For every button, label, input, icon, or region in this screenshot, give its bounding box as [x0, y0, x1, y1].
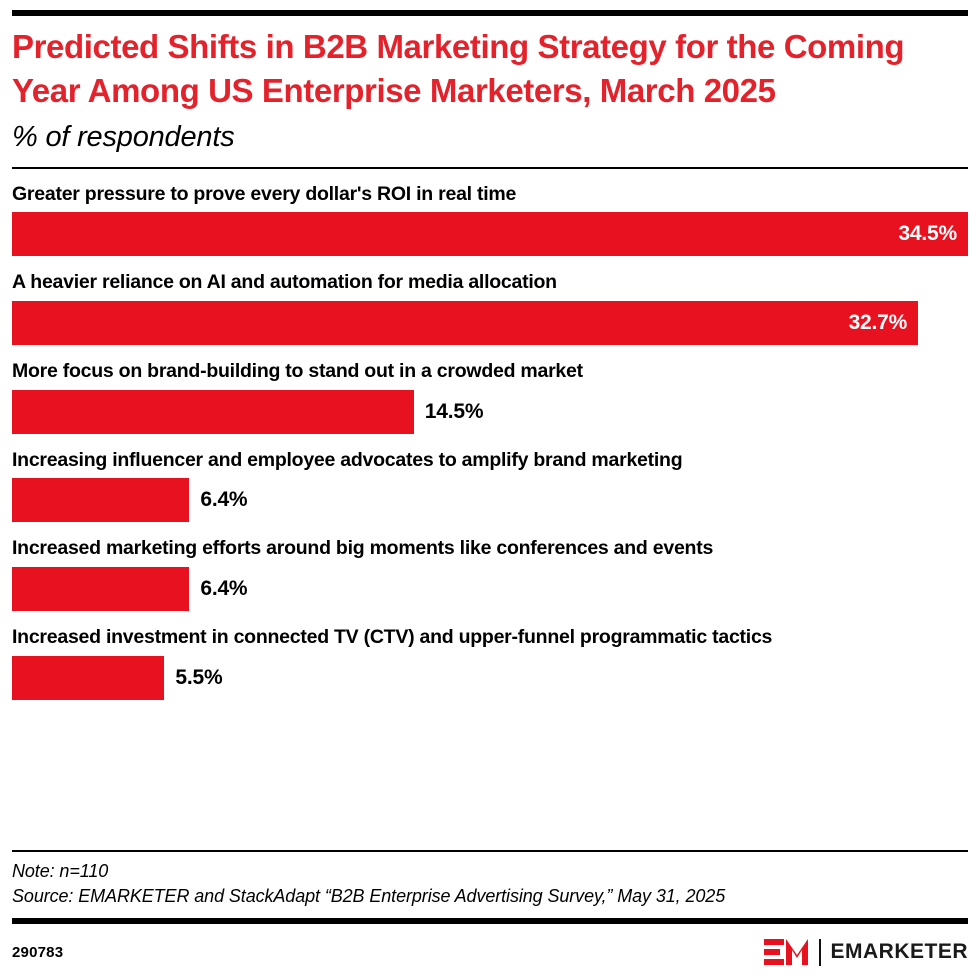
bar-fill[interactable]: [12, 478, 189, 522]
bar-value: 14.5%: [414, 400, 484, 424]
chart-id: 290783: [12, 944, 63, 961]
bar-label: More focus on brand-building to stand ou…: [12, 359, 968, 385]
chart-page: Predicted Shifts in B2B Marketing Strate…: [0, 0, 980, 980]
bar-group: Increased marketing efforts around big m…: [12, 536, 968, 611]
bar-fill[interactable]: [12, 567, 189, 611]
chart-subtitle: % of respondents: [12, 120, 968, 155]
brand-name: EMARKETER: [830, 940, 968, 964]
bar-row[interactable]: 6.4%: [12, 567, 968, 611]
bar-fill[interactable]: 32.7%: [12, 301, 918, 345]
page-title: Predicted Shifts in B2B Marketing Strate…: [12, 25, 967, 113]
bar-value: 6.4%: [189, 577, 247, 601]
chart-header: Predicted Shifts in B2B Marketing Strate…: [12, 0, 968, 169]
bar-label: Increased marketing efforts around big m…: [12, 536, 968, 562]
footer-divider-rule: [12, 850, 968, 852]
brand-lockup: EMARKETER: [764, 938, 968, 966]
bar-group: A heavier reliance on AI and automation …: [12, 270, 968, 345]
bar-fill[interactable]: [12, 656, 164, 700]
bar-group: Increased investment in connected TV (CT…: [12, 625, 968, 700]
header-rule-wrap: [12, 167, 968, 169]
bar-fill[interactable]: [12, 390, 414, 434]
footer-bottom-bar: 290783 EMARKETER: [12, 924, 968, 980]
bar-group: More focus on brand-building to stand ou…: [12, 359, 968, 434]
chart-footer: Note: n=110 Source: EMARKETER and StackA…: [12, 850, 968, 980]
bar-label: A heavier reliance on AI and automation …: [12, 270, 968, 296]
bar-value: 32.7%: [849, 311, 919, 335]
bar-label: Increasing influencer and employee advoc…: [12, 448, 968, 474]
em-logo-icon: [764, 938, 810, 966]
bar-row[interactable]: 6.4%: [12, 478, 968, 522]
bar-row[interactable]: 32.7%: [12, 301, 968, 345]
note-block: Note: n=110 Source: EMARKETER and StackA…: [12, 859, 968, 918]
bar-group: Greater pressure to prove every dollar's…: [12, 182, 968, 257]
brand-divider: [819, 939, 821, 966]
bar-value: 5.5%: [164, 666, 222, 690]
note-text: Note: n=110: [12, 859, 968, 885]
bar-group: Increasing influencer and employee advoc…: [12, 448, 968, 523]
bar-label: Increased investment in connected TV (CT…: [12, 625, 968, 651]
source-text: Source: EMARKETER and StackAdapt “B2B En…: [12, 884, 968, 910]
bar-chart: Greater pressure to prove every dollar's…: [12, 182, 968, 700]
bar-row[interactable]: 14.5%: [12, 390, 968, 434]
bar-label: Greater pressure to prove every dollar's…: [12, 182, 968, 208]
top-rule: [12, 10, 968, 16]
bar-fill[interactable]: 34.5%: [12, 212, 968, 256]
bar-row[interactable]: 34.5%: [12, 212, 968, 256]
bar-value: 34.5%: [898, 222, 968, 246]
bar-value: 6.4%: [189, 488, 247, 512]
bar-row[interactable]: 5.5%: [12, 656, 968, 700]
header-divider-rule: [12, 167, 968, 169]
